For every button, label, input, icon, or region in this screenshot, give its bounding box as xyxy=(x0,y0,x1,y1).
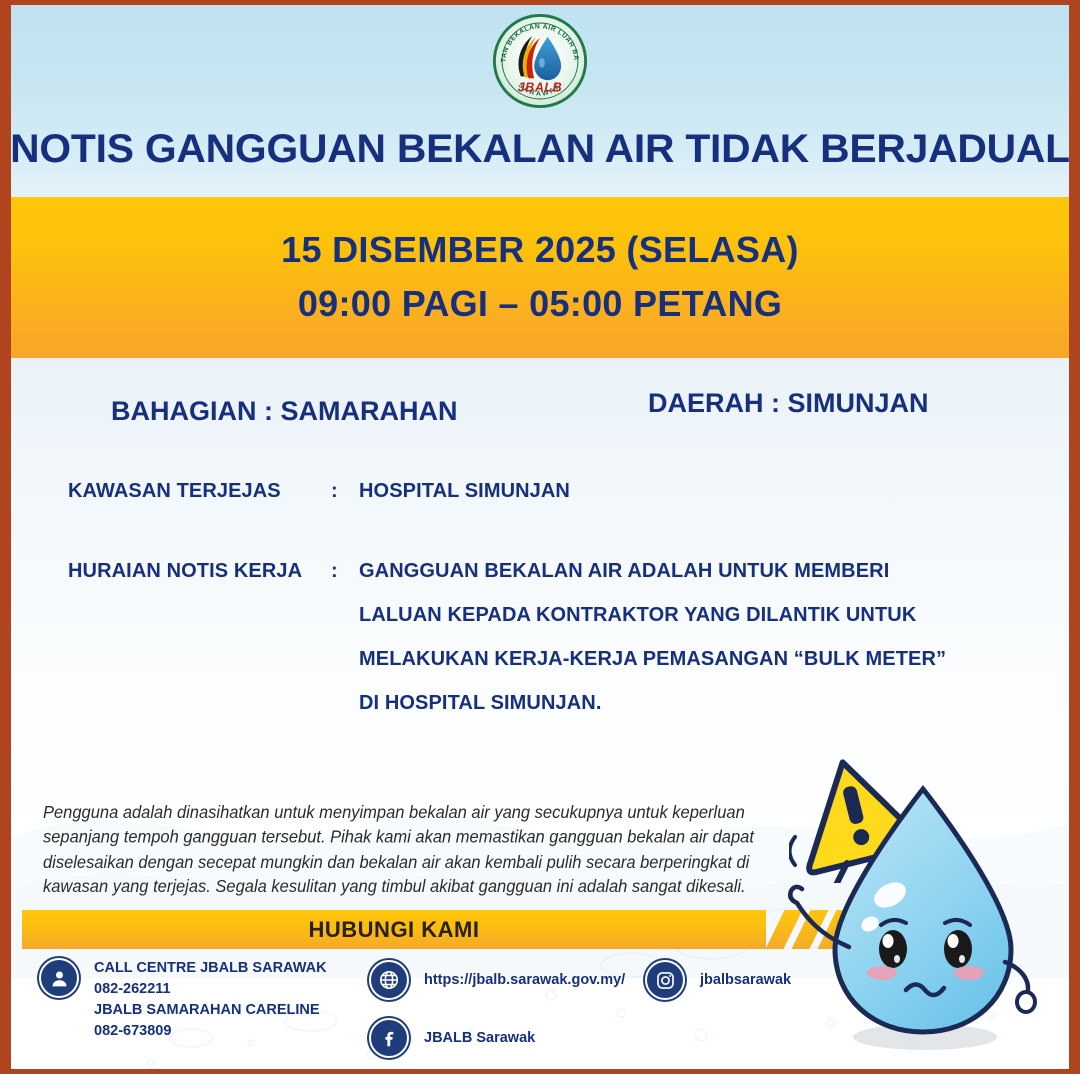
call-centre-line-2: 082-262211 xyxy=(94,979,327,1000)
instagram-icon xyxy=(645,960,685,1000)
website-label[interactable]: https://jbalb.sarawak.gov.my/ xyxy=(424,970,625,991)
contact-bar: HUBUNGI KAMI xyxy=(22,910,766,949)
daerah-label: DAERAH : SIMUNJAN xyxy=(648,388,929,419)
call-centre-text: CALL CENTRE JBALB SARAWAK 082-262211 JBA… xyxy=(94,958,327,1042)
work-description-line-3: MELAKUKAN KERJA-KERJA PEMASANGAN “BULK M… xyxy=(359,648,946,671)
work-description-line-4: DI HOSPITAL SIMUNJAN. xyxy=(359,692,602,715)
work-description-colon: : xyxy=(331,560,338,583)
person-icon xyxy=(39,958,79,998)
details-block: KAWASAN TERJEJAS : HOSPITAL SIMUNJAN HUR… xyxy=(11,480,1069,750)
advisory-note: Pengguna adalah dinasihatkan untuk menyi… xyxy=(43,801,783,900)
jbalb-logo: JABATAN BEKALAN AIR LUAR BANDAR SARAWAK … xyxy=(492,13,588,109)
affected-area-value: HOSPITAL SIMUNJAN xyxy=(359,480,570,503)
bahagian-label: BAHAGIAN : SAMARAHAN xyxy=(111,396,457,427)
contact-bar-title: HUBUNGI KAMI xyxy=(309,917,480,943)
work-description-label: HURAIAN NOTIS KERJA xyxy=(68,560,302,583)
page-title: NOTIS GANGGUAN BEKALAN AIR TIDAK BERJADU… xyxy=(0,127,1079,172)
contact-instagram[interactable]: jbalbsarawak xyxy=(645,960,791,1000)
contact-website[interactable]: https://jbalb.sarawak.gov.my/ xyxy=(369,960,625,1000)
facebook-icon xyxy=(369,1018,409,1058)
date-line-2: 09:00 PAGI – 05:00 PETANG xyxy=(11,283,1069,325)
call-centre-line-1: CALL CENTRE JBALB SARAWAK xyxy=(94,958,327,979)
contact-call-centre: CALL CENTRE JBALB SARAWAK 082-262211 JBA… xyxy=(39,958,327,1042)
header-band: JABATAN BEKALAN AIR LUAR BANDAR SARAWAK … xyxy=(11,5,1069,197)
work-description-line-1: GANGGUAN BEKALAN AIR ADALAH UNTUK MEMBER… xyxy=(359,560,889,583)
globe-icon xyxy=(369,960,409,1000)
call-centre-line-3: JBALB SAMARAHAN CARELINE xyxy=(94,1000,327,1021)
date-banner: 15 DISEMBER 2025 (SELASA) 09:00 PAGI – 0… xyxy=(11,197,1069,358)
work-description-row: HURAIAN NOTIS KERJA : GANGGUAN BEKALAN A… xyxy=(11,560,1069,750)
affected-area-label: KAWASAN TERJEJAS xyxy=(68,480,281,503)
facebook-label[interactable]: JBALB Sarawak xyxy=(424,1028,535,1049)
water-droplet-mascot xyxy=(773,747,1073,1067)
work-description-line-2: LALUAN KEPADA KONTRAKTOR YANG DILANTIK U… xyxy=(359,604,916,627)
region-row: BAHAGIAN : SAMARAHAN DAERAH : SIMUNJAN xyxy=(11,388,1069,434)
contact-facebook[interactable]: JBALB Sarawak xyxy=(369,1018,535,1058)
call-centre-line-4: 082-673809 xyxy=(94,1021,327,1042)
svg-text:JBALB: JBALB xyxy=(518,81,562,95)
affected-area-colon: : xyxy=(331,480,338,503)
date-line-1: 15 DISEMBER 2025 (SELASA) xyxy=(11,229,1069,271)
notice-poster: JABATAN BEKALAN AIR LUAR BANDAR SARAWAK … xyxy=(0,0,1080,1074)
affected-area-row: KAWASAN TERJEJAS : HOSPITAL SIMUNJAN xyxy=(11,480,1069,560)
